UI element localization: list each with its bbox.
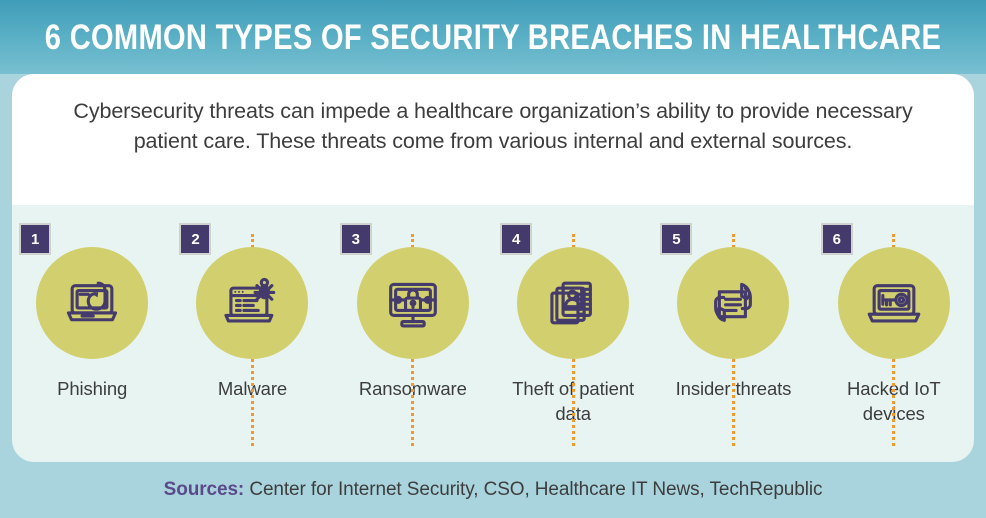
sources-label: Sources: — [164, 479, 245, 500]
breach-item-hacked-iot-devices[interactable]: 6 — [814, 205, 974, 462]
laptop-key-icon — [863, 272, 925, 334]
patient-records-stack-icon — [542, 272, 604, 334]
infographic-root: 6 Common Types of Security Breaches in H… — [0, 0, 986, 518]
icon-circle — [838, 247, 950, 359]
item-number-badge: 5 — [660, 223, 692, 255]
icon-circle-wrap: 4 — [517, 247, 629, 359]
content-card: Cybersecurity threats can impede a healt… — [12, 74, 974, 462]
laptop-bug-icon — [221, 272, 283, 334]
icon-circle-wrap: 2 — [196, 247, 308, 359]
sources-list: Center for Internet Security, CSO, Healt… — [244, 479, 822, 500]
breach-item-insider-threats[interactable]: 5 Insider threa — [653, 205, 813, 462]
icon-circle-wrap: 3 — [357, 247, 469, 359]
icon-circle — [517, 247, 629, 359]
item-number-badge: 1 — [19, 223, 51, 255]
icon-circle-wrap: 1 — [36, 247, 148, 359]
breach-types-row: 1 Phishing — [12, 205, 974, 462]
monitor-padlock-chain-icon — [382, 272, 444, 334]
icon-circle — [36, 247, 148, 359]
breach-item-theft-of-patient-data[interactable]: 4 — [493, 205, 653, 462]
icon-circle — [196, 247, 308, 359]
item-number-badge: 4 — [500, 223, 532, 255]
breach-item-malware[interactable]: 2 — [172, 205, 332, 462]
intro-text: Cybersecurity threats can impede a healt… — [62, 96, 924, 156]
icon-circle — [677, 247, 789, 359]
hands-document-icon — [702, 272, 764, 334]
breach-item-phishing[interactable]: 1 Phishing — [12, 205, 172, 462]
item-label: Phishing — [57, 376, 127, 401]
header-banner: 6 Common Types of Security Breaches in H… — [0, 0, 986, 74]
breach-item-ransomware[interactable]: 3 — [333, 205, 493, 462]
page-title: 6 Common Types of Security Breaches in H… — [45, 20, 941, 55]
laptop-fishing-hook-icon — [61, 272, 123, 334]
icon-circle-wrap: 5 — [677, 247, 789, 359]
icon-circle-wrap: 6 — [838, 247, 950, 359]
footer-band: Sources: Center for Internet Security, C… — [0, 462, 986, 518]
intro-section: Cybersecurity threats can impede a healt… — [12, 74, 974, 205]
item-number-badge: 3 — [340, 223, 372, 255]
item-number-badge: 6 — [821, 223, 853, 255]
sources-line: Sources: Center for Internet Security, C… — [164, 479, 823, 501]
item-number-badge: 2 — [179, 223, 211, 255]
icon-circle — [357, 247, 469, 359]
